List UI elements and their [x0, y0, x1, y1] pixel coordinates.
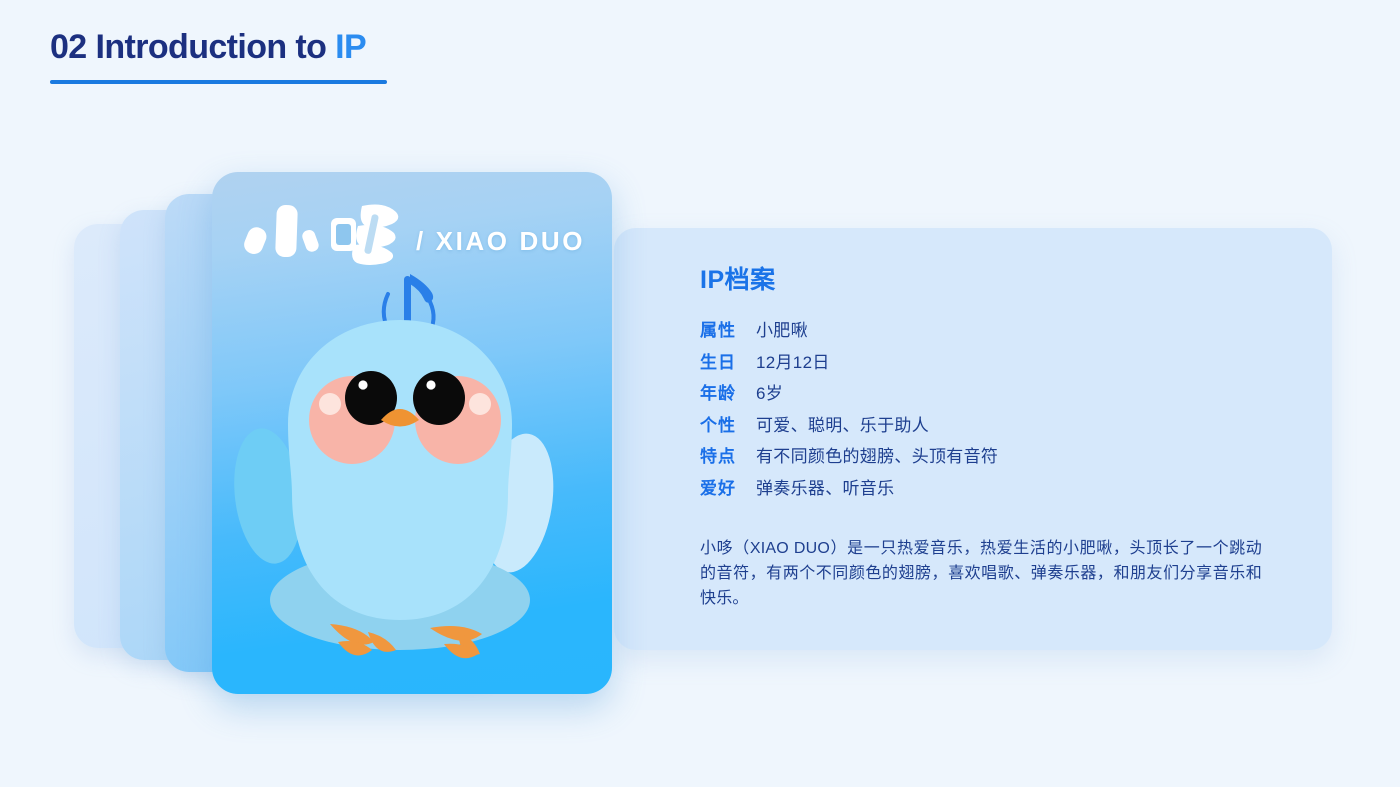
- ip-profile-title: IP档案: [700, 260, 1302, 296]
- mascot-card-title: / XIAO DUO: [238, 200, 585, 266]
- spec-value: 小肥啾: [756, 316, 808, 341]
- left-cheek-gloss: [319, 393, 341, 415]
- ip-profile-panel: IP档案 属性 小肥啾 生日 12月12日 年龄 6岁 个性 可爱、聪明、乐于助…: [614, 228, 1332, 650]
- right-eye-highlight: [426, 380, 435, 389]
- left-eye-highlight: [358, 380, 367, 389]
- list-item: 爱好 弹奏乐器、听音乐: [700, 474, 1302, 506]
- list-item: 年龄 6岁: [700, 379, 1302, 411]
- bird-body: [288, 320, 512, 620]
- right-eye: [413, 371, 465, 425]
- spec-label: 年龄: [700, 379, 756, 404]
- spec-value: 6岁: [756, 379, 783, 404]
- list-item: 个性 可爱、聪明、乐于助人: [700, 411, 1302, 443]
- list-item: 特点 有不同颜色的翅膀、头顶有音符: [700, 442, 1302, 474]
- page-title: 02 Introduction to IP: [50, 30, 387, 66]
- list-item: 生日 12月12日: [700, 348, 1302, 380]
- page-title-accent: IP: [335, 28, 366, 66]
- page-title-number: 02: [50, 28, 87, 66]
- mascot-card: / XIAO DUO: [212, 172, 612, 694]
- spec-value: 可爱、聪明、乐于助人: [756, 411, 929, 436]
- spec-label: 生日: [700, 348, 756, 373]
- mascot-name-cn: [238, 200, 408, 266]
- mascot-name-latin-text: XIAO DUO: [436, 226, 585, 256]
- spec-label: 属性: [700, 316, 756, 341]
- bird-mascot-illustration: [212, 268, 612, 694]
- spec-label: 爱好: [700, 474, 756, 499]
- spec-value: 12月12日: [756, 348, 830, 373]
- spec-value: 有不同颜色的翅膀、头顶有音符: [756, 442, 998, 467]
- ip-description-paragraph: 小哆（XIAO DUO）是一只热爱音乐，热爱生活的小肥啾，头顶长了一个跳动的音符…: [700, 536, 1262, 611]
- ip-spec-list: 属性 小肥啾 生日 12月12日 年龄 6岁 个性 可爱、聪明、乐于助人 特点: [700, 316, 1302, 505]
- spec-label: 特点: [700, 442, 756, 467]
- slide-header: 02 Introduction to IP: [50, 30, 387, 84]
- ip-profile-content: IP档案 属性 小肥啾 生日 12月12日 年龄 6岁 个性 可爱、聪明、乐于助…: [700, 260, 1302, 611]
- header-underline-divider: [50, 80, 387, 84]
- list-item: 属性 小肥啾: [700, 316, 1302, 348]
- slide-canvas: 02 Introduction to IP IP档案 属性 小肥啾 生日 12月…: [0, 0, 1400, 787]
- mascot-name-latin: / XIAO DUO: [416, 226, 585, 257]
- mascot-name-separator: /: [416, 226, 426, 256]
- spec-label: 个性: [700, 411, 756, 436]
- spec-value: 弹奏乐器、听音乐: [756, 474, 894, 499]
- page-title-main: Introduction to: [95, 28, 326, 66]
- right-cheek-gloss: [469, 393, 491, 415]
